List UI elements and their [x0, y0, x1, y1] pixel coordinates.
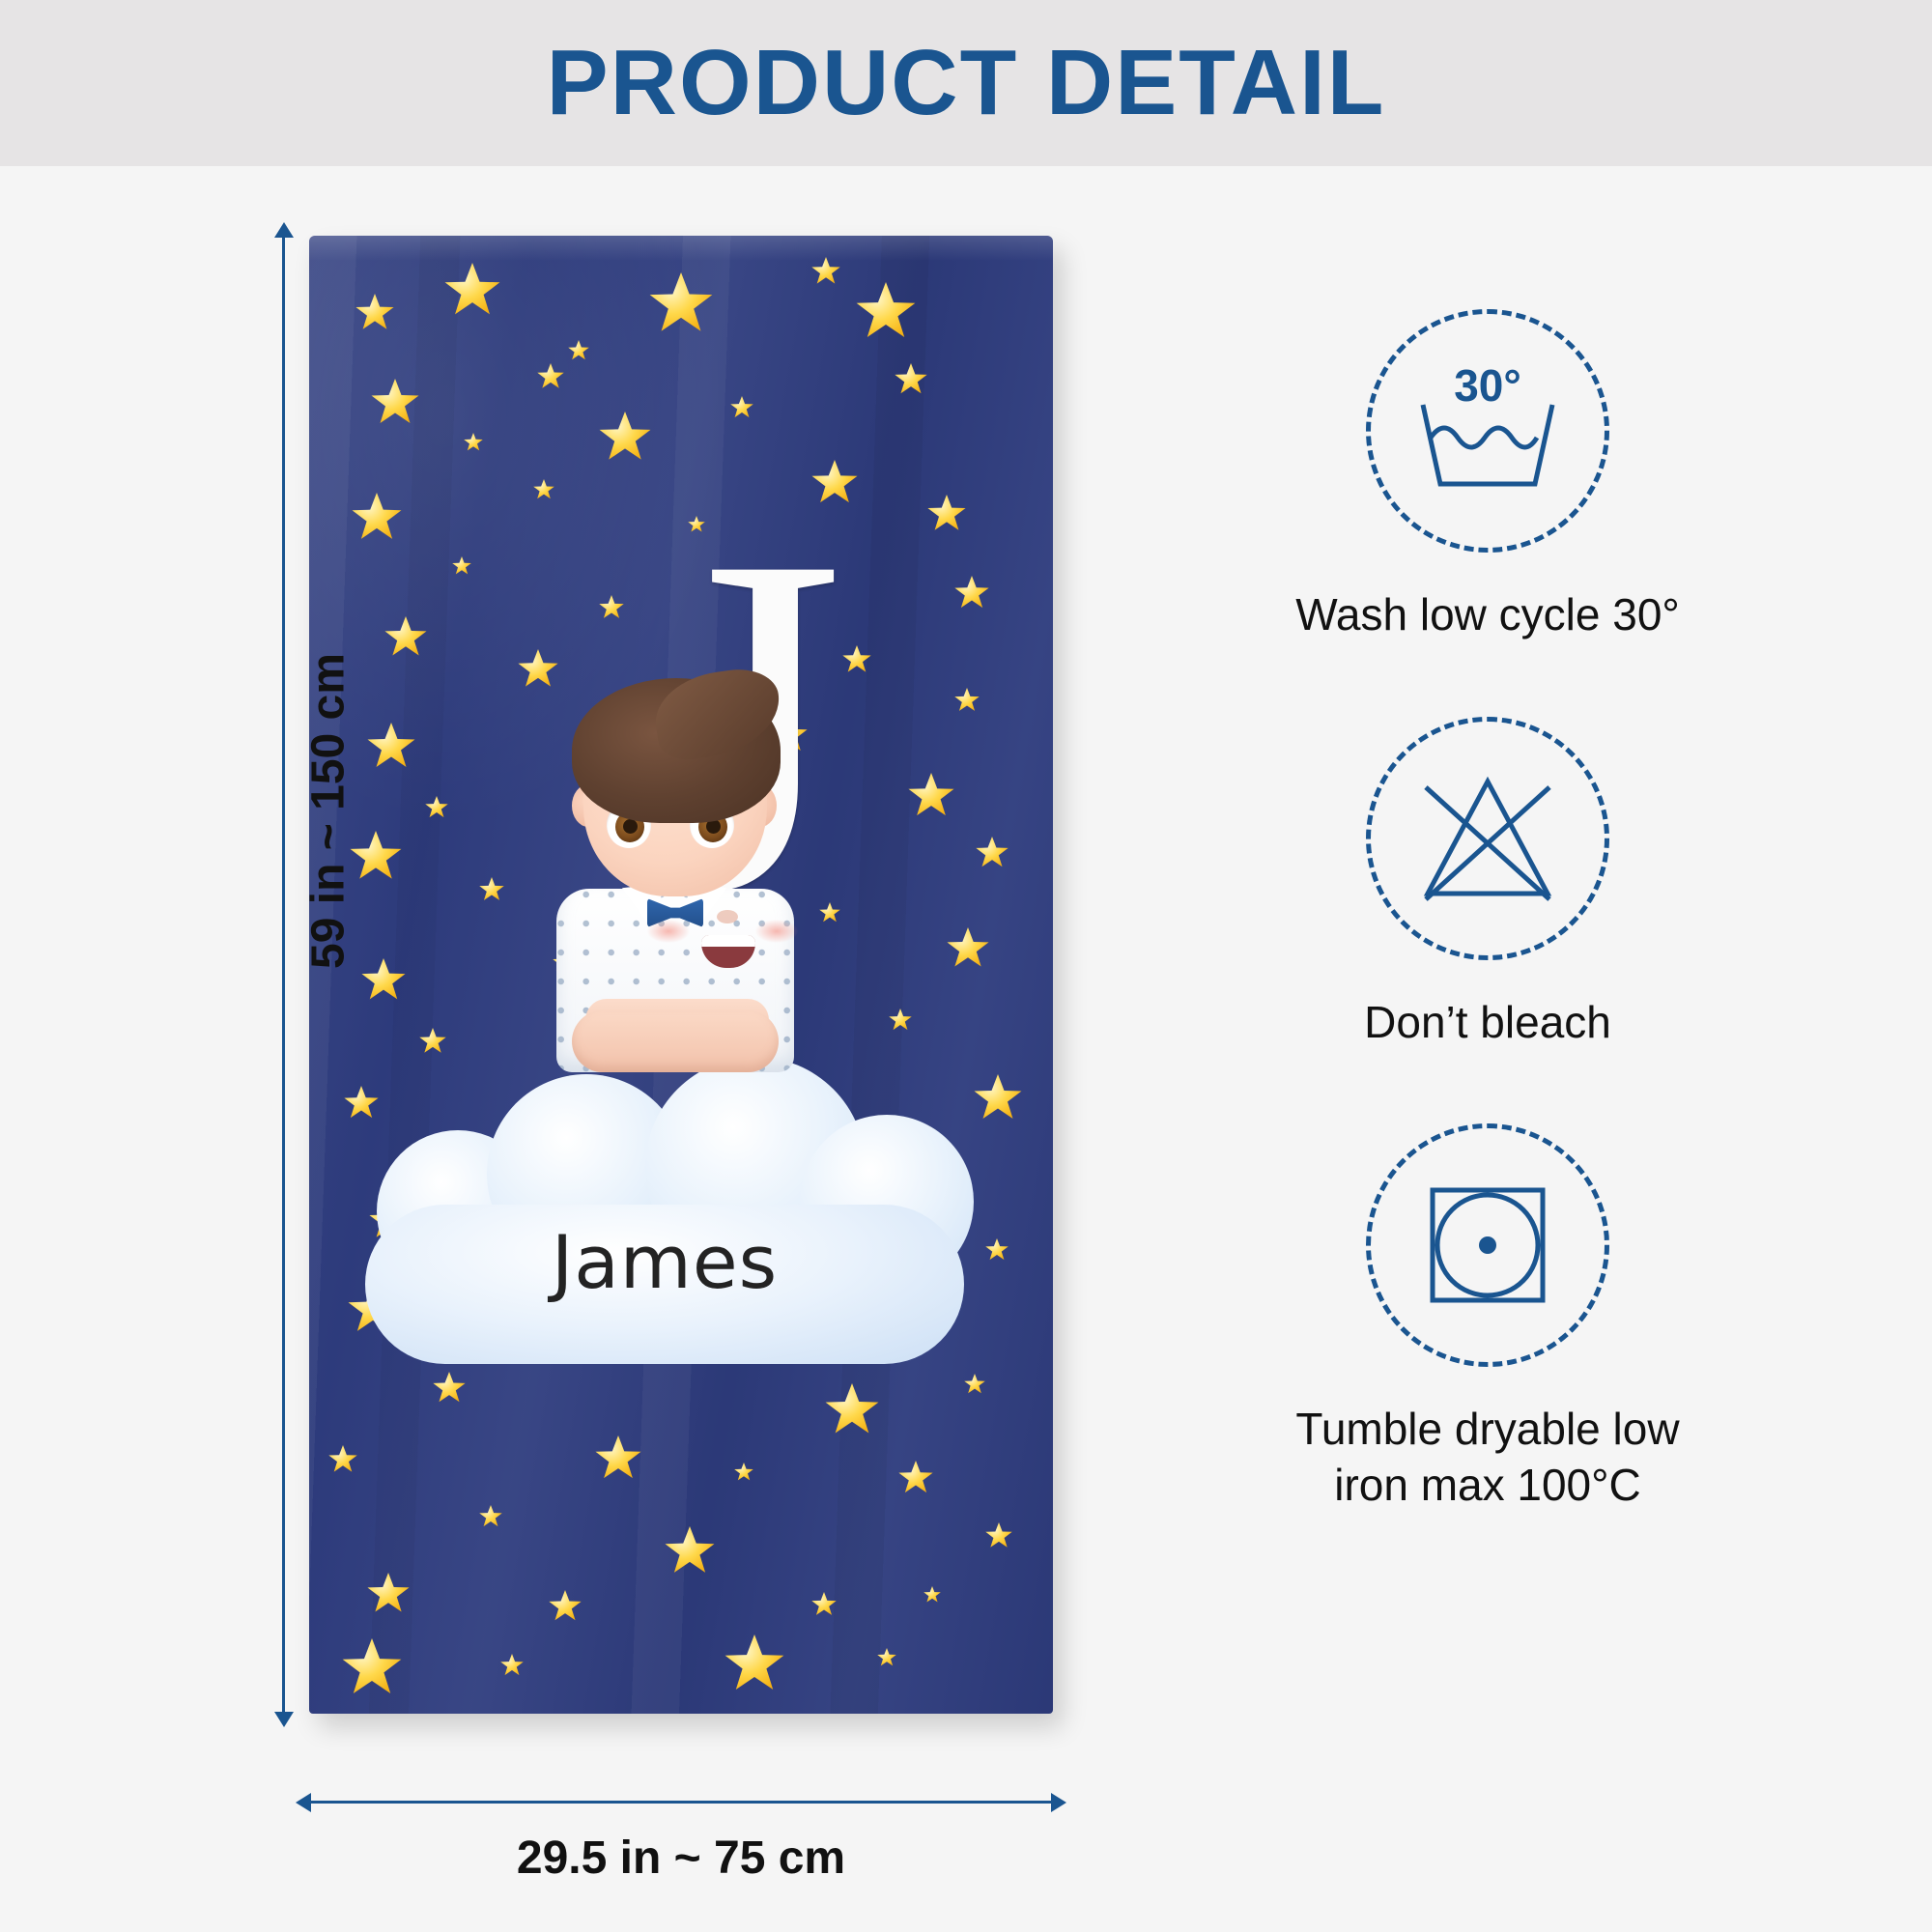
star-icon [479, 1505, 502, 1528]
star-icon [908, 773, 954, 819]
height-dimension-label: 59 in ~ 150 cm [302, 609, 355, 1014]
star-icon [665, 1526, 715, 1577]
star-icon [825, 1383, 879, 1437]
boy-pupil-left [623, 819, 638, 834]
boy-crossed-arms [572, 1010, 779, 1072]
star-icon [927, 495, 966, 533]
star-icon [595, 1435, 641, 1482]
star-icon [452, 556, 471, 576]
star-icon [730, 396, 753, 419]
wash-basin-30-icon: 30° [1406, 358, 1570, 503]
star-icon [954, 576, 989, 611]
wash-temp-text: 30° [1454, 360, 1521, 411]
arrow-up-icon [274, 222, 294, 238]
tumble-dry-low-icon [1415, 1173, 1560, 1318]
star-icon [954, 688, 980, 713]
star-icon [974, 1074, 1022, 1122]
star-icon [734, 1463, 753, 1482]
star-icon [367, 1573, 410, 1615]
star-icon [649, 272, 713, 336]
personalized-name: James [355, 1219, 974, 1305]
arrow-left-icon [296, 1793, 311, 1812]
star-icon [568, 340, 589, 361]
care-item-wash: 30° Wash low cycle 30° [1150, 309, 1826, 643]
star-icon [342, 1638, 402, 1698]
boy-teeth [701, 935, 755, 947]
wash-badge: 30° [1366, 309, 1609, 553]
star-icon [895, 363, 927, 396]
towel-top-edge [309, 236, 1053, 261]
arrow-down-icon [274, 1712, 294, 1727]
arrow-right-icon [1051, 1793, 1066, 1812]
star-icon [985, 1238, 1009, 1262]
width-dimension-line [309, 1801, 1053, 1804]
star-icon [599, 412, 651, 464]
star-icon [923, 1586, 941, 1604]
star-icon [976, 837, 1009, 869]
star-icon [350, 831, 402, 883]
star-icon [947, 927, 989, 970]
star-icon [533, 479, 554, 500]
star-icon [371, 379, 419, 427]
care-item-bleach: Don’t bleach [1150, 717, 1826, 1051]
width-dimension-label: 29.5 in ~ 75 cm [309, 1832, 1053, 1885]
star-icon [599, 595, 624, 620]
star-icon [425, 796, 448, 819]
star-icon [352, 493, 402, 543]
star-icon [549, 1590, 582, 1623]
star-icon [889, 1009, 912, 1032]
star-icon [537, 363, 564, 390]
star-icon [811, 1592, 837, 1617]
bleach-badge [1366, 717, 1609, 960]
product-detail-stage: J [0, 166, 1932, 1932]
tumble-dry-badge [1366, 1123, 1609, 1367]
star-icon [367, 723, 415, 771]
care-label-tumble-dry: Tumble dryable low iron max 100°C [1295, 1402, 1679, 1513]
header-band: PRODUCT DETAIL [0, 0, 1932, 166]
boy-cheek-right [755, 920, 798, 943]
star-icon [856, 282, 916, 342]
towel-product-image: J [309, 236, 1053, 1714]
star-icon [811, 257, 840, 286]
star-icon [328, 1445, 357, 1474]
star-icon [361, 958, 406, 1003]
towel-fabric: J [309, 236, 1053, 1714]
boy-character-illustration [529, 639, 819, 1103]
star-icon [724, 1634, 784, 1694]
star-icon [877, 1648, 896, 1667]
boy-cheek-left [647, 920, 690, 943]
height-dimension-line [282, 236, 285, 1714]
star-icon [842, 645, 871, 674]
boy-nose [717, 910, 738, 923]
star-icon [479, 877, 504, 902]
star-icon [355, 294, 394, 332]
star-icon [500, 1654, 524, 1677]
star-icon [464, 433, 483, 452]
care-label-wash: Wash low cycle 30° [1295, 587, 1680, 643]
star-icon [384, 616, 427, 659]
care-label-bleach: Don’t bleach [1364, 995, 1611, 1051]
star-icon [444, 263, 500, 319]
star-icon [985, 1522, 1012, 1549]
care-instructions-list: 30° Wash low cycle 30° Don’t bleach [1150, 309, 1826, 1586]
care-item-tumble-dry: Tumble dryable low iron max 100°C [1150, 1123, 1826, 1513]
page-title: PRODUCT DETAIL [547, 37, 1386, 129]
star-icon [898, 1461, 933, 1495]
no-bleach-triangle-icon [1410, 766, 1565, 911]
